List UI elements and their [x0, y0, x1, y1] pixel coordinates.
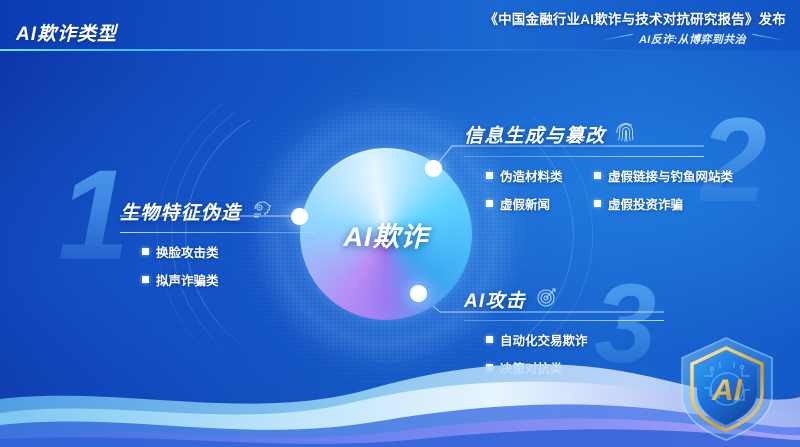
list-item[interactable]: 虚假链接与钓鱼网站类	[594, 166, 733, 185]
branch-3-header: AI攻击	[464, 284, 664, 315]
slide-canvas: AI欺诈类型 《中国金融行业AI欺诈与技术对抗研究报告》发布 AI反诈:从博弈到…	[0, 0, 800, 447]
connector-node-top	[425, 160, 442, 177]
bullet-square-icon	[142, 276, 149, 283]
branch-3-rule	[464, 320, 664, 321]
bullet-square-icon	[594, 200, 601, 207]
center-circle: AI欺诈	[300, 148, 472, 320]
bullet-square-icon	[142, 248, 149, 255]
list-item-label: 换脸攻击类	[156, 242, 219, 261]
bullet-square-icon	[594, 172, 601, 179]
fingerprint-icon	[613, 118, 639, 151]
connector-node-bottom	[410, 285, 427, 302]
ai-shield-badge: AI	[668, 332, 786, 444]
branch-2-items: 伪造材料类 虚假链接与钓鱼网站类 虚假新闻 虚假投资诈骗	[486, 166, 734, 222]
branch-1-title: 生物特征伪造	[120, 198, 241, 225]
list-item[interactable]: 换脸攻击类	[142, 242, 316, 261]
list-item[interactable]: 虚假投资诈骗	[594, 194, 683, 213]
branch-2-header: 信息生成与篡改	[464, 118, 734, 151]
list-item[interactable]: 伪造材料类	[486, 166, 594, 185]
branch-3-title: AI攻击	[464, 286, 526, 313]
center-label: AI欺诈	[300, 148, 472, 320]
branch-2-title: 信息生成与篡改	[464, 121, 605, 148]
target-icon	[534, 284, 560, 315]
branch-information-generation-tampering[interactable]: 信息生成与篡改	[464, 118, 734, 222]
list-item-label: 伪造材料类	[500, 166, 563, 185]
bullet-square-icon	[486, 172, 493, 179]
branch-biometric-forgery[interactable]: 生物特征伪造 换脸攻击类 拟声诈骗类	[120, 196, 316, 298]
list-item[interactable]: 虚假新闻	[486, 194, 594, 213]
face-profile-icon	[249, 196, 275, 227]
badge-label: AI	[711, 374, 743, 407]
list-item-label: 虚假新闻	[500, 194, 550, 213]
branch-1-items: 换脸攻击类 拟声诈骗类	[142, 242, 316, 298]
branch-1-header: 生物特征伪造	[120, 196, 316, 227]
list-item-label: 虚假链接与钓鱼网站类	[608, 166, 733, 185]
list-item-label: 虚假投资诈骗	[608, 194, 683, 213]
list-item[interactable]: 拟声诈骗类	[142, 270, 316, 289]
list-item-label: 拟声诈骗类	[156, 270, 219, 289]
bullet-square-icon	[486, 200, 493, 207]
branch-2-rule	[464, 156, 704, 157]
branch-1-rule	[120, 232, 316, 233]
